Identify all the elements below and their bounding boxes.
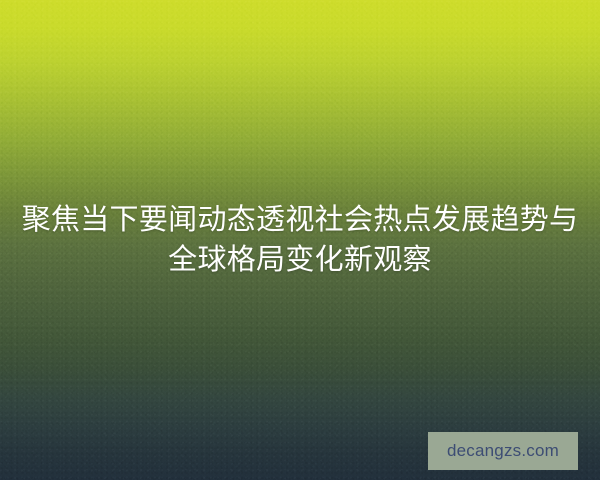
watermark-label: decangzs.com xyxy=(447,441,559,461)
watermark-badge: decangzs.com xyxy=(428,432,578,470)
headline-title: 聚焦当下要闻动态透视社会热点发展趋势与全球格局变化新观察 xyxy=(0,200,600,280)
title-card-canvas: 聚焦当下要闻动态透视社会热点发展趋势与全球格局变化新观察 decangzs.co… xyxy=(0,0,600,480)
